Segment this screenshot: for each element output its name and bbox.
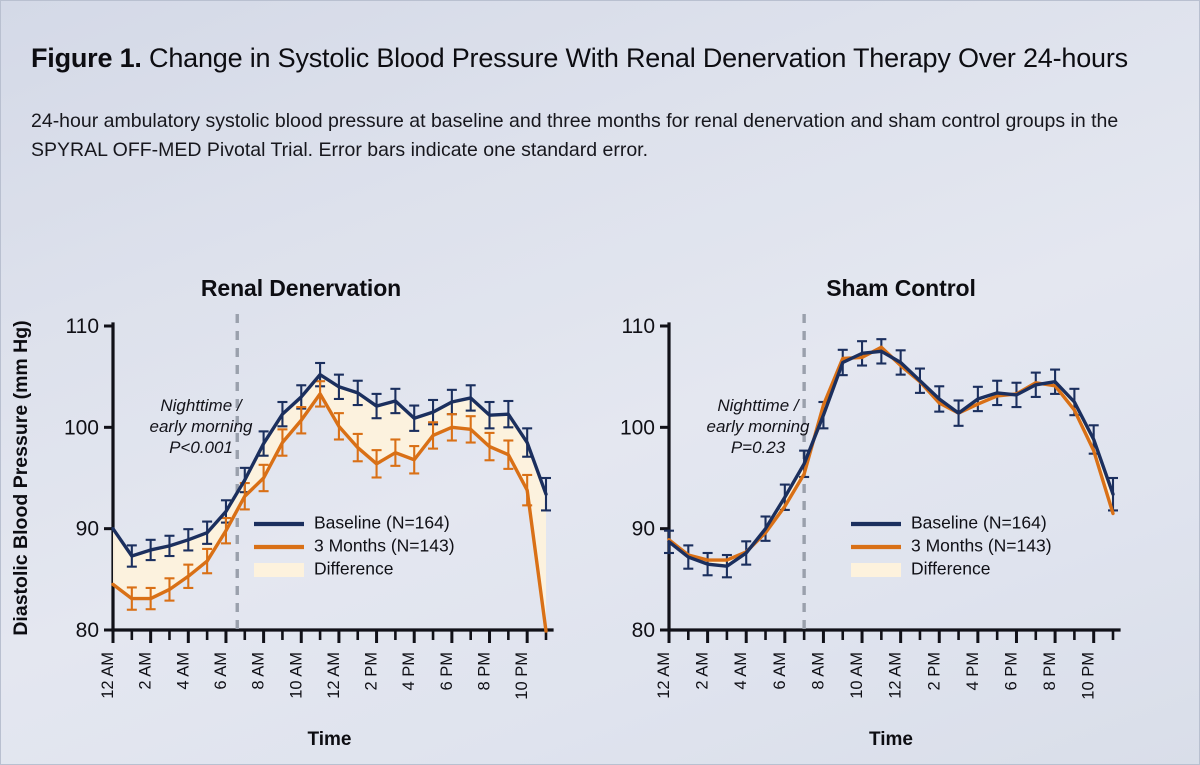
- legend-swatch-difference: [851, 563, 901, 577]
- x-tick-label: 10 AM: [848, 652, 866, 699]
- x-tick-label: 12 AM: [887, 652, 905, 699]
- x-tick-label: 4 PM: [400, 652, 418, 691]
- x-tick-label: 2 AM: [137, 652, 155, 690]
- y-tick-label: 90: [76, 518, 99, 541]
- legend-label: Baseline (N=164): [911, 513, 1047, 533]
- x-tick-label: 6 PM: [438, 652, 456, 691]
- annotation-line: Nighttime /: [717, 396, 801, 415]
- annotation-line: early morning: [150, 417, 254, 436]
- x-tick-label: 2 PM: [925, 652, 943, 691]
- y-tick-label: 110: [66, 315, 99, 338]
- annotation-line: early morning: [707, 417, 811, 436]
- series-line-baseline: [669, 351, 1113, 566]
- x-tick-label: 8 PM: [476, 652, 494, 691]
- x-tick-label: 6 AM: [212, 652, 230, 690]
- legend-label: 3 Months (N=143): [314, 536, 455, 556]
- legend-label: Baseline (N=164): [314, 513, 450, 533]
- x-tick-label: 8 AM: [250, 652, 268, 690]
- x-tick-label: 12 AM: [325, 652, 343, 699]
- x-tick-label: 4 AM: [732, 652, 750, 690]
- charts-area: Renal Denervation 8090100110Diastolic Bl…: [1, 259, 1200, 759]
- x-tick-label: 2 AM: [694, 652, 712, 690]
- x-tick-label: 10 PM: [1080, 652, 1098, 700]
- y-tick-label: 90: [632, 518, 655, 541]
- x-tick-label: 4 AM: [174, 652, 192, 690]
- x-tick-label: 12 AM: [99, 652, 117, 699]
- figure-container: Figure 1. Change in Systolic Blood Press…: [0, 0, 1200, 765]
- y-tick-label: 100: [64, 416, 99, 439]
- annotation-line: Nighttime /: [160, 396, 244, 415]
- legend-label: Difference: [911, 559, 990, 579]
- y-tick-label: 110: [622, 315, 655, 338]
- x-tick-label: 10 AM: [287, 652, 305, 699]
- x-tick-label: 8 PM: [1041, 652, 1059, 691]
- chart-renal-denervation: 8090100110Diastolic Blood Pressure (mm H…: [1, 259, 601, 759]
- figure-subtitle: 24-hour ambulatory systolic blood pressu…: [31, 107, 1141, 166]
- y-axis-title: Diastolic Blood Pressure (mm Hg): [10, 320, 32, 635]
- annotation-pvalue: P<0.001: [169, 438, 233, 457]
- x-axis-title: Time: [307, 729, 351, 750]
- legend-label: Difference: [314, 559, 393, 579]
- y-tick-label: 80: [76, 619, 99, 642]
- y-tick-label: 80: [632, 619, 655, 642]
- x-axis-title: Time: [869, 729, 913, 750]
- x-tick-label: 6 PM: [1002, 652, 1020, 691]
- x-tick-label: 2 PM: [363, 652, 381, 691]
- figure-title: Figure 1. Change in Systolic Blood Press…: [31, 41, 1176, 75]
- x-tick-label: 10 PM: [513, 652, 531, 700]
- x-tick-label: 8 AM: [809, 652, 827, 690]
- panel-sham-control: Sham Control 809010011012 AM2 AM4 AM6 AM…: [601, 259, 1200, 759]
- x-tick-label: 4 PM: [964, 652, 982, 691]
- legend-swatch-difference: [254, 563, 304, 577]
- annotation-pvalue: P=0.23: [731, 438, 786, 457]
- x-tick-label: 6 AM: [771, 652, 789, 690]
- legend-label: 3 Months (N=143): [911, 536, 1052, 556]
- figure-caption: Figure 1. Change in Systolic Blood Press…: [31, 41, 1176, 166]
- y-tick-label: 100: [620, 416, 655, 439]
- panel-renal-denervation: Renal Denervation 8090100110Diastolic Bl…: [1, 259, 601, 759]
- chart-sham-control: 809010011012 AM2 AM4 AM6 AM8 AM10 AM12 A…: [601, 259, 1200, 759]
- x-tick-label: 12 AM: [655, 652, 673, 699]
- figure-label: Figure 1.: [31, 43, 142, 73]
- figure-title-text: Change in Systolic Blood Pressure With R…: [149, 43, 1128, 73]
